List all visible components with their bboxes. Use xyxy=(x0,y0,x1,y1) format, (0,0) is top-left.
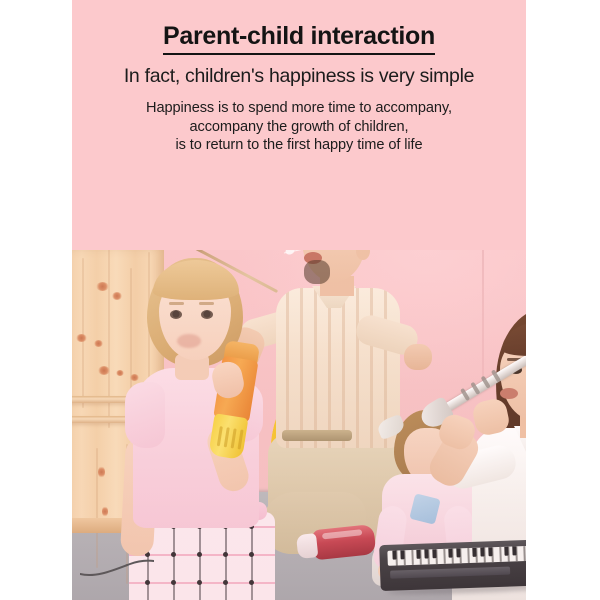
maraca-body xyxy=(312,524,377,560)
body-copy: Happiness is to spend more time to accom… xyxy=(72,99,526,155)
subtitle: In fact, children's happiness is very si… xyxy=(72,65,526,88)
maraca-handle xyxy=(296,533,318,559)
cable xyxy=(80,558,154,578)
father-beard xyxy=(304,260,330,284)
father-belt xyxy=(282,430,352,441)
header-text-block: Parent-child interaction In fact, childr… xyxy=(72,0,526,250)
page-root: Parent-child interaction In fact, childr… xyxy=(0,0,600,600)
body-line-1: Happiness is to spend more time to accom… xyxy=(72,99,526,118)
girl1-left-sleeve xyxy=(125,382,165,448)
page-title: Parent-child interaction xyxy=(72,22,526,51)
girl-with-microphone-figure xyxy=(117,250,287,600)
microphone-grip xyxy=(208,413,248,460)
electronic-keyboard xyxy=(379,539,526,597)
keyboard-body xyxy=(379,539,526,591)
product-banner: Parent-child interaction In fact, childr… xyxy=(72,0,526,600)
body-line-2: accompany the growth of children, xyxy=(72,118,526,137)
keyboard-keys xyxy=(387,545,526,566)
body-line-3: is to return to the first happy time of … xyxy=(72,136,526,155)
girl1-fringe xyxy=(153,260,239,300)
page-title-text: Parent-child interaction xyxy=(163,22,435,55)
girl1-mouth xyxy=(177,334,201,348)
mother-lips xyxy=(500,388,518,399)
father-right-hand xyxy=(404,344,432,370)
keyboard-control-panel xyxy=(390,567,510,579)
